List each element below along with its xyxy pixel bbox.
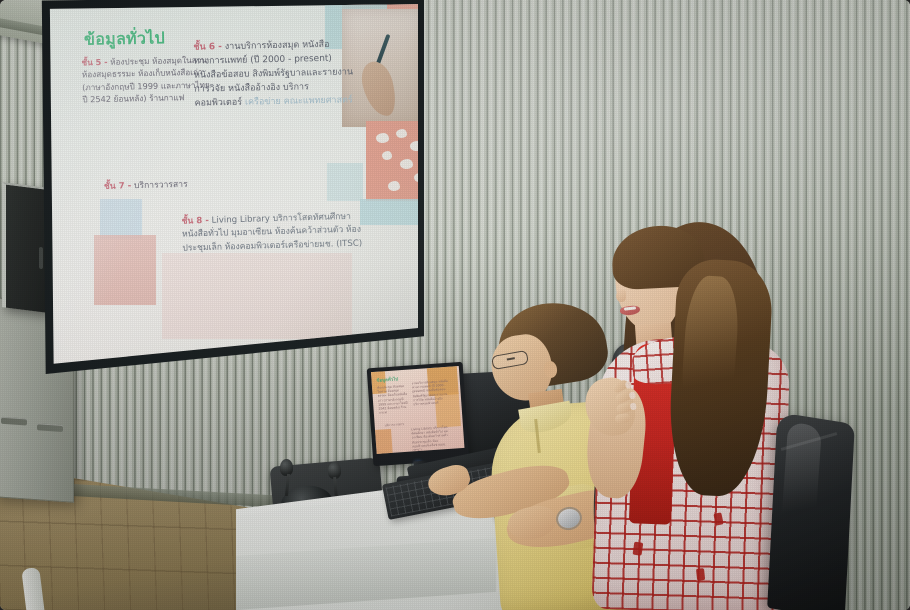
desktop-monitor: ข้อมูลทั่วไป ห้องประชุม ห้องสมุดในสวน ห้… — [367, 362, 470, 466]
monitor-slide-text-left: ห้องประชุม ห้องสมุดในสวน ห้องสมุดธรรมะ ห… — [377, 384, 409, 415]
photograph-scene: ข้อมูลทั่วไป ชั้น 5 - ห้องประชุม ห้องสมุ… — [0, 0, 910, 610]
slide-block-floor-8: ชั้น 8 - Living Library บริการโสตทัศนศึก… — [181, 210, 368, 255]
slide-heading-floor-5: ชั้น 5 - — [82, 57, 108, 68]
slide-decor-coral-block — [366, 121, 418, 201]
slide-decor-teal-block-3 — [360, 199, 418, 225]
cabinet-handle[interactable] — [1, 417, 27, 426]
slide-text-floor-7: บริการวารสาร — [134, 180, 188, 191]
slide-decor-teal-block-2 — [327, 163, 363, 201]
slide-text-floor-8: Living Library บริการโสตทัศนศึกษา หนังสื… — [182, 212, 362, 253]
slide-decor-sky-block — [100, 199, 142, 239]
monitor-slide-title: ข้อมูลทั่วไป — [376, 375, 398, 383]
monitor-slide-text-right: งานบริการห้องสมุด หนังสือทางการแพทย์ (ปี… — [412, 379, 450, 406]
slide-block-floor-6: ชั้น 6 - งานบริการห้องสมุด หนังสือทางการ… — [193, 37, 354, 110]
slide-text-floor-6-tail: เครือข่าย คณะแพทยศาสตร์ — [245, 95, 353, 107]
slide-heading-floor-8: ชั้น 8 - — [182, 216, 210, 227]
slide-block-floor-7: ชั้น 7 - บริการวารสาร — [104, 177, 254, 194]
projection-screen: ข้อมูลทั่วไป ชั้น 5 - ห้องประชุม ห้องสมุ… — [42, 3, 418, 367]
slide-decor-rose-block — [94, 235, 156, 305]
tv-power-button[interactable] — [39, 247, 43, 269]
cabinet-handle[interactable] — [37, 423, 63, 432]
slide-title: ข้อมูลทั่วไป — [84, 26, 166, 53]
monitor-slide-text-floor8: Living Library บริการโสตทัศนศึกษา หนังสื… — [411, 425, 455, 453]
woman-nose — [616, 290, 626, 302]
slide-heading-floor-6: ชั้น 6 - — [193, 42, 222, 53]
slide-decor-rose-wash — [162, 253, 352, 339]
slide-heading-floor-7: ชั้น 7 - — [104, 181, 131, 192]
monitor-slide-text-floor7: บริการวารสาร — [385, 422, 411, 428]
wall-tv — [2, 182, 48, 313]
monitor-screen: ข้อมูลทั่วไป ห้องประชุม ห้องสมุดในสวน ห้… — [371, 366, 465, 454]
hand-shape — [358, 58, 401, 120]
